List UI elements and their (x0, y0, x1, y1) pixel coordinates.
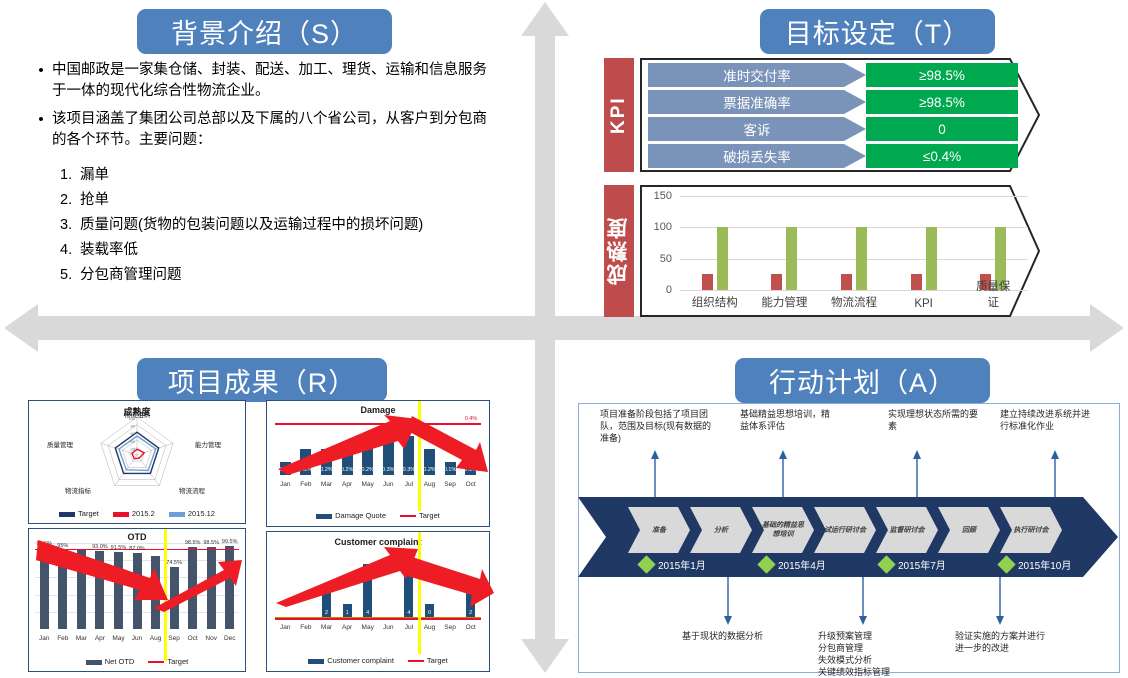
category-label: Feb (300, 481, 311, 488)
legend-label: Damage Quote (335, 511, 386, 520)
legend-item: Damage Quote (316, 511, 386, 520)
category-label: Jun (132, 635, 142, 642)
trend-arrow-damage-up (272, 413, 422, 475)
action-connector-up-4 (1050, 450, 1060, 498)
legend-swatch (169, 512, 185, 517)
list-label: 装载率低 (80, 242, 138, 258)
milestone: 2015年7月 (880, 557, 946, 572)
action-note-top: 基础精益思想培训，精益体系评估 (740, 408, 830, 432)
maturity-bar-chart: 050100150组织结构能力管理物流流程KPI质量保证 (646, 190, 1036, 312)
category-label: May (362, 624, 374, 631)
category-label: Jan (280, 624, 290, 631)
chart-legend: Damage QuoteTarget (267, 511, 489, 520)
bar-目标 (717, 227, 728, 290)
kpi-value: ≥98.5% (866, 63, 1018, 87)
chevron-label: 试运行研讨会 (823, 526, 867, 535)
slide-canvas: 背景介绍（S） 目标设定（T） 项目成果（R） 行动计划（A） • 中国邮政是一… (0, 0, 1128, 675)
category-label: Aug (424, 624, 436, 631)
chevron-label: 分析 (699, 526, 743, 535)
legend-label: Customer complaint (327, 656, 394, 665)
chevron-label: 监督研讨会 (885, 526, 929, 535)
chart-legend: Customer complaintTarget (267, 656, 489, 665)
category-label: Apr (342, 624, 352, 631)
list-index: 5. (60, 263, 80, 288)
kpi-name: 客诉 (648, 117, 866, 141)
bar-value-label: 2 (325, 610, 328, 616)
radar-plot: 物流组织能力管理物流流程物流指标质量管理10080604020 (29, 409, 245, 501)
maturity-side-label: 成熟度 (604, 185, 634, 317)
section-title-background: 背景介绍（S） (137, 9, 392, 54)
table-row: 准时交付率 ≥98.5% (648, 63, 1018, 87)
action-connector-up-3 (912, 450, 922, 498)
category-label: KPI (914, 298, 933, 310)
bar-value-label: 4 (366, 610, 369, 616)
action-note-bottom: 基于现状的数据分析 (682, 630, 774, 642)
category-label: Feb (300, 624, 311, 631)
category-label: Feb (57, 635, 68, 642)
bullet-text: 该项目涵盖了集团公司总部以及下属的八个省公司，从客户到分包商的各个环节。主要问题… (52, 109, 500, 151)
kpi-name: 破损丢失率 (648, 144, 866, 168)
list-item: 1.漏单 (60, 163, 500, 188)
legend-swatch (86, 660, 102, 665)
category-label: Jul (405, 481, 413, 488)
category-label: Dec (224, 635, 236, 642)
category-label: Aug (424, 481, 436, 488)
list-label: 质量问题(货物的包装问题以及运输过程中的损坏问题) (80, 217, 423, 233)
legend-swatch (316, 514, 332, 519)
problem-list: 1.漏单 2.抢单 3.质量问题(货物的包装问题以及运输过程中的损坏问题) 4.… (60, 163, 500, 288)
table-row: 票据准确率 ≥98.5% (648, 90, 1018, 114)
svg-text:20: 20 (131, 446, 136, 451)
action-connector-down-2 (858, 577, 868, 625)
trend-arrow-otd-up (148, 544, 244, 612)
category-label: 能力管理 (761, 294, 807, 310)
category-label: Aug (150, 635, 162, 642)
milestone: 2015年4月 (760, 557, 826, 572)
legend-line (408, 660, 424, 662)
y-axis-tick: 150 (646, 190, 672, 202)
category-label: Jan (39, 635, 49, 642)
action-note-bottom: 升级预案管理 分包商管理 失效模式分析 关键绩效指标管理 (818, 630, 928, 678)
milestone-label: 2015年10月 (1018, 557, 1071, 572)
radar-axis-label: 物流流程 (179, 486, 206, 495)
milestone-diamond-icon (757, 555, 775, 573)
legend-label: 2015.2 (132, 509, 155, 518)
milestone: 2015年1月 (640, 557, 706, 572)
category-label: 质量保证 (972, 278, 1015, 310)
action-note-top: 实现理想状态所需的要素 (888, 408, 980, 432)
radar-axis-label: 质量管理 (47, 440, 74, 449)
action-connector-up-1 (650, 450, 660, 498)
category-label: May (112, 635, 124, 642)
radar-axis-label: 物流指标 (65, 486, 92, 495)
bar-目标 (856, 227, 867, 290)
category-label: Mar (76, 635, 87, 642)
chevron-label: 执行研讨会 (1009, 526, 1053, 535)
trend-arrow-damage-down (408, 412, 490, 474)
list-index: 3. (60, 213, 80, 238)
category-label: Jul (405, 624, 413, 631)
legend-swatch (308, 659, 324, 664)
y-axis-tick: 0 (646, 284, 672, 296)
bar-当前 (841, 274, 852, 290)
kpi-name: 票据准确率 (648, 90, 866, 114)
category-label: Sep (444, 624, 456, 631)
category-label: 组织结构 (692, 294, 738, 310)
legend-item: Net OTD (86, 657, 135, 666)
kpi-value: ≥98.5% (866, 90, 1018, 114)
category-label: Oct (466, 624, 476, 631)
legend-item: Customer complaint (308, 656, 394, 665)
list-item: 5.分包商管理问题 (60, 263, 500, 288)
category-label: Sep (168, 635, 180, 642)
list-label: 抢单 (80, 192, 109, 208)
list-index: 1. (60, 163, 80, 188)
category-label: Jun (383, 624, 393, 631)
chevron-label: 基础的精益思想培训 (761, 521, 805, 539)
target-line (275, 618, 481, 620)
chart-legend: Net OTDTarget (29, 657, 245, 666)
chevron-label: 回顾 (947, 526, 991, 535)
action-connector-up-2 (778, 450, 788, 498)
kpi-table: 准时交付率 ≥98.5% 票据准确率 ≥98.5% 客诉 0 破损丢失率 ≤0.… (648, 63, 1018, 171)
legend-item: 2015.12 (169, 509, 215, 518)
table-row: 客诉 0 (648, 117, 1018, 141)
table-row: 破损丢失率 ≤0.4% (648, 144, 1018, 168)
list-label: 分包商管理问题 (80, 267, 182, 283)
gridline (680, 196, 1028, 197)
bar-value-label: 1 (346, 610, 349, 616)
kpi-side-label: KPI (604, 58, 634, 172)
list-index: 2. (60, 188, 80, 213)
category-label: Mar (321, 624, 332, 631)
milestone-label: 2015年4月 (778, 557, 826, 572)
legend-item: Target (400, 511, 440, 520)
kpi-value: ≤0.4% (866, 144, 1018, 168)
milestone-diamond-icon (637, 555, 655, 573)
chart-card-radar: 成熟度 物流组织能力管理物流流程物流指标质量管理10080604020 Targ… (28, 400, 246, 524)
bar-当前 (771, 274, 782, 290)
gridline (680, 259, 1028, 260)
milestone-label: 2015年7月 (898, 557, 946, 572)
action-note-bottom: 验证实施的方案并进行进一步的改进 (955, 630, 1047, 654)
legend-line (400, 515, 416, 517)
legend-label: Net OTD (105, 657, 135, 666)
chevron-label: 准备 (637, 526, 681, 535)
kpi-value: 0 (866, 117, 1018, 141)
legend-swatch (59, 512, 75, 517)
legend-item: Target (148, 657, 188, 666)
category-label: 物流流程 (831, 294, 877, 310)
y-axis-tick: 100 (646, 221, 672, 233)
list-index: 4. (60, 238, 80, 263)
list-item: 2.抢单 (60, 188, 500, 213)
legend-label: Target (419, 511, 440, 520)
svg-text:100: 100 (128, 416, 135, 421)
legend-swatch (113, 512, 129, 517)
section-title-target: 目标设定（T） (760, 9, 995, 54)
category-label: Apr (342, 481, 352, 488)
gridline (680, 227, 1028, 228)
action-connector-down-1 (723, 577, 733, 625)
milestone-diamond-icon (877, 555, 895, 573)
bar-value-label: 2 (469, 610, 472, 616)
action-note-top: 项目准备阶段包括了项目团队，范围及目标(现有数据的准备) (600, 408, 715, 444)
category-label: Oct (466, 481, 476, 488)
section-title-results: 项目成果（R） (137, 358, 387, 402)
bar-value-label: 0 (428, 610, 431, 616)
bullet-text: 中国邮政是一家集仓储、封装、配送、加工、理货、运输和信息服务于一体的现代化综合性… (52, 60, 500, 102)
list-item: 4.装载率低 (60, 238, 500, 263)
bullet-marker: • (30, 60, 52, 102)
category-label: Oct (188, 635, 198, 642)
category-label: May (362, 481, 374, 488)
bar-value-label: 4 (407, 610, 410, 616)
list-label: 漏单 (80, 167, 109, 183)
trend-arrow-cc-up (272, 545, 420, 607)
svg-text:60: 60 (131, 431, 136, 436)
section-title-action: 行动计划（A） (735, 358, 990, 403)
bullet-item: • 该项目涵盖了集团公司总部以及下属的八个省公司，从客户到分包商的各个环节。主要… (30, 109, 500, 151)
milestone-label: 2015年1月 (658, 557, 706, 572)
bar-目标 (926, 227, 937, 290)
legend-label: Target (78, 509, 99, 518)
legend-item: Target (408, 656, 448, 665)
bullet-item: • 中国邮政是一家集仓储、封装、配送、加工、理货、运输和信息服务于一体的现代化综… (30, 60, 500, 102)
legend-label: Target (427, 656, 448, 665)
category-label: Mar (321, 481, 332, 488)
action-note-top: 建立持续改进系统并进行标准化作业 (1000, 408, 1092, 432)
list-item: 3.质量问题(货物的包装问题以及运输过程中的损坏问题) (60, 213, 500, 238)
category-label: Sep (444, 481, 456, 488)
legend-label: Target (167, 657, 188, 666)
radar-axis-label: 能力管理 (195, 440, 222, 449)
legend-item: Target (59, 509, 99, 518)
bullet-marker: • (30, 109, 52, 151)
bar-当前 (702, 274, 713, 290)
legend-label: 2015.12 (188, 509, 215, 518)
category-label: Apr (95, 635, 105, 642)
bar-当前 (911, 274, 922, 290)
category-label: Jun (383, 481, 393, 488)
category-label: Nov (205, 635, 217, 642)
bar-目标 (786, 227, 797, 290)
milestone-diamond-icon (997, 555, 1015, 573)
svg-text:40: 40 (131, 439, 136, 444)
background-content: • 中国邮政是一家集仓储、封装、配送、加工、理货、运输和信息服务于一体的现代化综… (30, 60, 500, 290)
trend-arrow-cc-down (404, 549, 496, 609)
svg-text:80: 80 (131, 424, 136, 429)
chart-legend: Target2015.22015.12 (29, 509, 245, 518)
legend-item: 2015.2 (113, 509, 155, 518)
kpi-name: 准时交付率 (648, 63, 866, 87)
milestone: 2015年10月 (1000, 557, 1071, 572)
action-connector-down-3 (995, 577, 1005, 625)
legend-line (148, 661, 164, 663)
y-axis-tick: 50 (646, 253, 672, 265)
category-label: Jan (280, 481, 290, 488)
